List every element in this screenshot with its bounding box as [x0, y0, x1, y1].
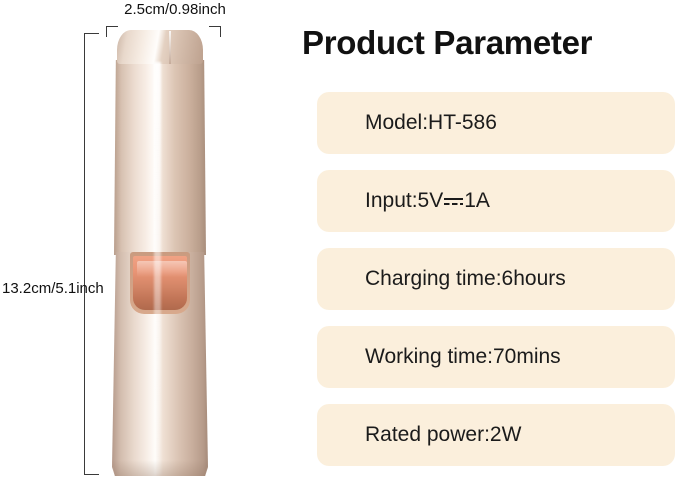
- page-title: Product Parameter: [302, 24, 679, 62]
- parameter-row: Rated power:2W: [317, 404, 675, 466]
- width-dimension-label: 2.5cm/0.98inch: [100, 1, 250, 18]
- parameter-row: Charging time:6hours: [317, 248, 675, 310]
- product-device-image: [106, 30, 214, 476]
- parameter-row: Input:5V1A: [317, 170, 675, 232]
- device-trimmer-head-gloss: [137, 261, 187, 277]
- device-specular-highlight: [154, 62, 161, 474]
- height-bracket-icon: [84, 33, 99, 475]
- parameter-row-prefix: Input:5V: [365, 189, 443, 213]
- parameter-row-suffix: 1A: [464, 189, 490, 213]
- device-cap-seam: [169, 31, 171, 64]
- parameter-row-text: Working time:70mins: [365, 345, 561, 369]
- parameter-row-text: Input:5V1A: [365, 189, 490, 213]
- product-parameter-panel: Product Parameter Model:HT-586Input:5V1A…: [295, 0, 679, 491]
- device-top-cap: [117, 30, 203, 64]
- parameter-row-text: Model:HT-586: [365, 111, 497, 135]
- parameter-row-text: Charging time:6hours: [365, 267, 566, 291]
- parameter-row: Working time:70mins: [317, 326, 675, 388]
- parameter-row: Model:HT-586: [317, 92, 675, 154]
- height-dimension-label: 13.2cm/5.1inch: [2, 280, 104, 297]
- parameter-list: Model:HT-586Input:5V1ACharging time:6hou…: [317, 92, 675, 482]
- parameter-row-text: Rated power:2W: [365, 423, 521, 447]
- dc-voltage-icon: [444, 196, 463, 207]
- product-image-panel: 2.5cm/0.98inch 13.2cm/5.1inch: [0, 0, 295, 491]
